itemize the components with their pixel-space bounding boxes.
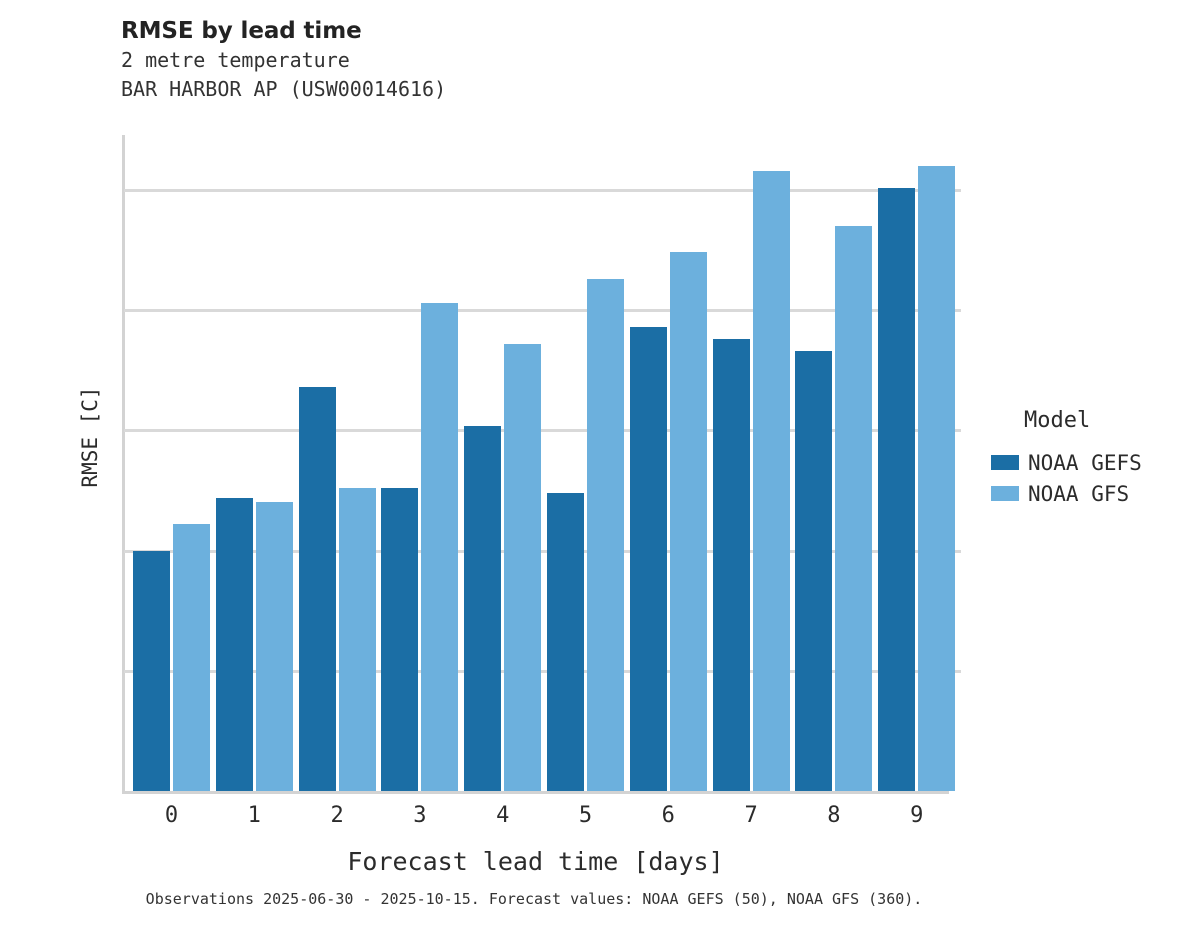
bar-noaa-gfs-day-2[interactable]: [339, 488, 376, 791]
x-tick-label: 5: [566, 803, 606, 828]
legend-label: NOAA GEFS: [1028, 451, 1142, 475]
x-tick-label: 0: [152, 803, 192, 828]
bar-noaa-gefs-day-1[interactable]: [216, 498, 253, 791]
legend-swatch: [991, 486, 1019, 501]
chart-title: RMSE by lead time: [121, 16, 941, 46]
bar-noaa-gfs-day-6[interactable]: [670, 252, 707, 791]
bar-noaa-gefs-day-9[interactable]: [878, 188, 915, 792]
x-tick-label: 3: [400, 803, 440, 828]
bar-noaa-gefs-day-0[interactable]: [133, 551, 170, 791]
bar-noaa-gefs-day-3[interactable]: [381, 488, 418, 791]
legend-title: Model: [1024, 408, 1181, 433]
bar-noaa-gefs-day-4[interactable]: [464, 426, 501, 791]
x-axis-spine: [122, 791, 949, 794]
x-tick-label: 1: [234, 803, 274, 828]
gridline: [124, 189, 943, 192]
x-tick-label: 9: [897, 803, 937, 828]
chart-subtitle-variable: 2 metre temperature: [121, 46, 941, 75]
bar-noaa-gfs-day-3[interactable]: [421, 303, 458, 791]
bar-noaa-gefs-day-2[interactable]: [299, 387, 336, 791]
x-tick-label: 4: [483, 803, 523, 828]
bar-noaa-gfs-day-5[interactable]: [587, 279, 624, 791]
chart-subtitle-station: BAR HARBOR AP (USW00014616): [121, 75, 941, 104]
footer-note: Observations 2025-06-30 - 2025-10-15. Fo…: [0, 890, 1068, 908]
title-block: RMSE by lead time 2 metre temperature BA…: [121, 16, 941, 104]
y-axis-spine: [122, 135, 125, 794]
bar-noaa-gefs-day-7[interactable]: [713, 339, 750, 791]
x-tick-label: 2: [317, 803, 357, 828]
plot-area: 0.00.51.01.52.02.5 0123456789 RMSE [C] F…: [122, 135, 949, 794]
x-tick-label: 8: [814, 803, 854, 828]
legend-swatch: [991, 455, 1019, 470]
legend-label: NOAA GFS: [1028, 482, 1129, 506]
legend-item-noaa-gfs[interactable]: NOAA GFS: [991, 478, 1181, 509]
x-tick-label: 6: [648, 803, 688, 828]
bar-noaa-gfs-day-1[interactable]: [256, 502, 293, 791]
legend-item-noaa-gefs[interactable]: NOAA GEFS: [991, 447, 1181, 478]
legend: Model NOAA GEFSNOAA GFS: [991, 408, 1181, 509]
bar-noaa-gfs-day-0[interactable]: [173, 524, 210, 791]
bar-noaa-gfs-day-4[interactable]: [504, 344, 541, 791]
x-tick-label: 7: [731, 803, 771, 828]
bar-noaa-gfs-day-8[interactable]: [835, 226, 872, 791]
x-axis-label: Forecast lead time [days]: [122, 847, 949, 876]
chart-figure: RMSE by lead time 2 metre temperature BA…: [0, 0, 1188, 928]
bar-noaa-gfs-day-9[interactable]: [918, 166, 955, 791]
bar-noaa-gfs-day-7[interactable]: [753, 171, 790, 791]
gridline: [124, 309, 943, 312]
y-axis-label: RMSE [C]: [78, 377, 102, 497]
bar-noaa-gefs-day-5[interactable]: [547, 493, 584, 791]
bar-noaa-gefs-day-6[interactable]: [630, 327, 667, 791]
legend-entries: NOAA GEFSNOAA GFS: [991, 447, 1181, 509]
bar-noaa-gefs-day-8[interactable]: [795, 351, 832, 791]
